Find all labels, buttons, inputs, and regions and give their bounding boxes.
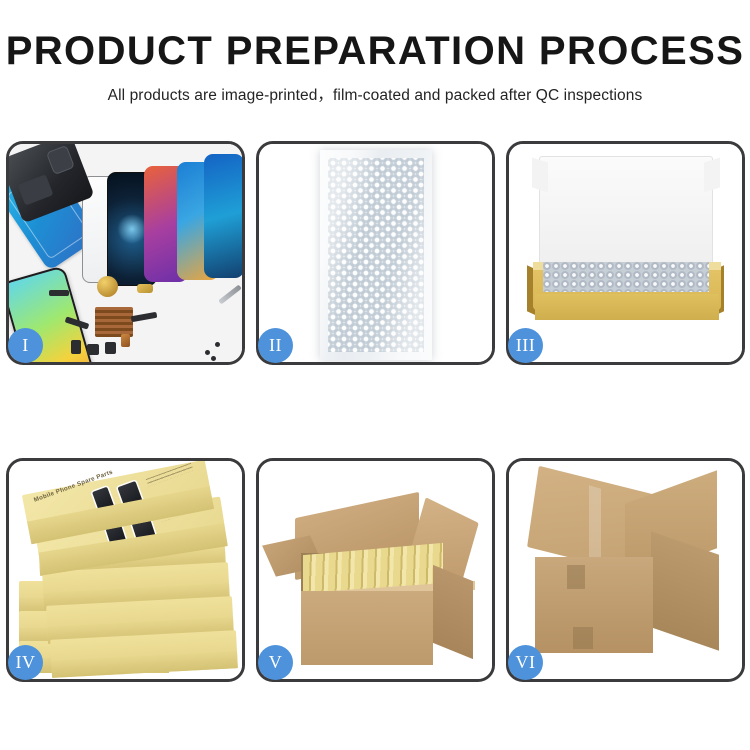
carton-side-face: [433, 565, 473, 659]
step-badge-2: II: [258, 328, 293, 363]
carton-top-seam: [589, 485, 601, 566]
part-connector-2: [71, 340, 81, 354]
product-preparation-infographic: PRODUCT PREPARATION PROCESS All products…: [0, 0, 750, 750]
carton-front-face: [301, 591, 433, 665]
header: PRODUCT PREPARATION PROCESS All products…: [0, 0, 750, 105]
speaker-module: [97, 276, 118, 297]
step-5-image: [259, 461, 492, 679]
step-badge-3: III: [508, 328, 543, 363]
box-spec-lines: [145, 462, 193, 486]
part-screw-2: [215, 342, 220, 347]
step-4-image: Mobile Phone Spare Parts Mobile Phone Sp…: [9, 461, 242, 679]
step-6-image: [509, 461, 742, 679]
step-2-image: [259, 144, 492, 362]
process-step-4: Mobile Phone Spare Parts Mobile Phone Sp…: [6, 458, 245, 682]
process-step-1: I: [6, 141, 245, 365]
step-3-image: [509, 144, 742, 362]
page-subtitle: All products are image-printed，film-coat…: [0, 83, 750, 105]
process-step-3: III: [506, 141, 745, 365]
carton-tape-mark-upper: [567, 565, 585, 589]
part-contact-gold: [137, 284, 153, 293]
part-connector-4: [105, 342, 116, 354]
box-side: [51, 651, 238, 678]
step-badge-6: VI: [508, 645, 543, 680]
step-badge-4: IV: [8, 645, 43, 680]
carton-tape-mark-lower: [573, 627, 593, 649]
part-screw-3: [211, 356, 216, 361]
flex-cable-grid: [95, 307, 133, 337]
step-badge-5: V: [258, 645, 293, 680]
part-ribbon-2: [131, 312, 158, 322]
step-badge-1: I: [8, 328, 43, 363]
part-connector-3: [87, 344, 99, 355]
part-screw-1: [205, 350, 210, 355]
page-title: PRODUCT PREPARATION PROCESS: [0, 30, 750, 72]
box-lid-open: [539, 156, 713, 274]
process-step-2: II: [256, 141, 495, 365]
part-copper-tab: [121, 334, 130, 347]
box-front-panel: [535, 294, 719, 320]
retail-box-stack: Mobile Phone Spare Parts Mobile Phone Sp…: [13, 471, 242, 677]
step-1-image: [9, 144, 242, 362]
bubble-wrapped-contents: [543, 262, 709, 292]
process-step-5: V: [256, 458, 495, 682]
process-step-6: VI: [506, 458, 745, 682]
tweezers-tool: [218, 285, 242, 305]
sealed-carton-front: [535, 557, 653, 653]
plastic-sheen: [320, 150, 432, 360]
part-connector-1: [49, 290, 69, 296]
process-step-grid: I II III: [6, 141, 744, 682]
phone-teal: [204, 154, 242, 278]
